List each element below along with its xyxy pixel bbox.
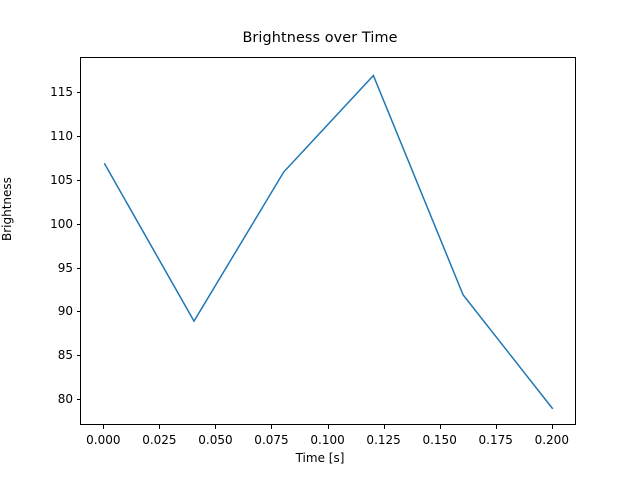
x-tick-label: 0.175 — [479, 433, 513, 447]
x-tick-label: 0.075 — [254, 433, 288, 447]
x-tick-label: 0.200 — [535, 433, 569, 447]
y-tick-label: 110 — [30, 129, 73, 143]
y-tick-label: 90 — [30, 304, 73, 318]
y-tick-label: 100 — [30, 217, 73, 231]
y-axis-label: Brightness — [0, 177, 14, 241]
x-tick-label: 0.050 — [198, 433, 232, 447]
x-tick-label: 0.000 — [86, 433, 120, 447]
x-tick-label: 0.125 — [366, 433, 400, 447]
figure-canvas: Brightness over Time Brightness Time [s]… — [0, 0, 640, 480]
data-series-canvas — [81, 58, 577, 426]
y-tick-label: 105 — [30, 173, 73, 187]
x-tick-label: 0.150 — [422, 433, 456, 447]
plot-area — [80, 57, 576, 425]
y-tick-label: 85 — [30, 348, 73, 362]
line-series-brightness — [104, 76, 552, 409]
x-axis-label: Time [s] — [0, 451, 640, 465]
y-tick-label: 80 — [30, 392, 73, 406]
chart-title: Brightness over Time — [0, 30, 640, 46]
y-tick-label: 95 — [30, 261, 73, 275]
x-tick-label: 0.100 — [310, 433, 344, 447]
y-tick-label: 115 — [30, 85, 73, 99]
x-tick-label: 0.025 — [142, 433, 176, 447]
